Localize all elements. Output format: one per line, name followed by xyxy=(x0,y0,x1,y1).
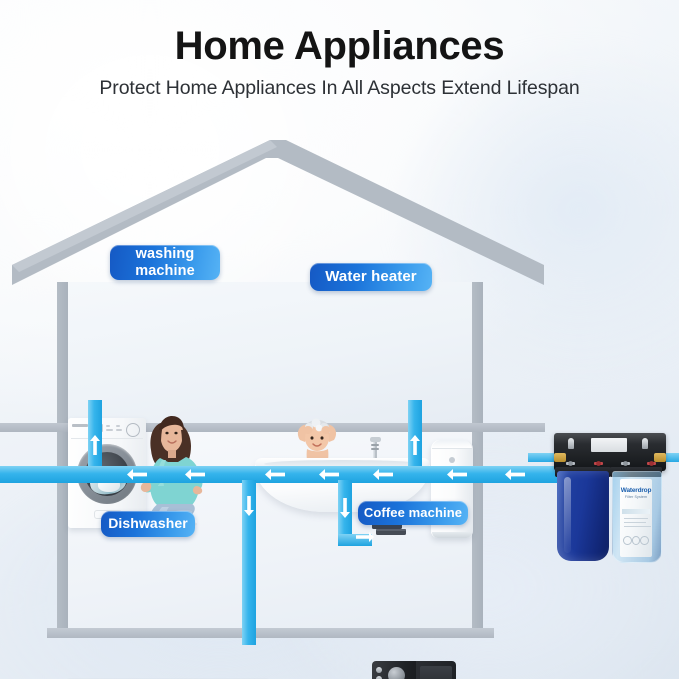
coffee-machine-dial xyxy=(388,667,405,679)
main-water-pipe xyxy=(0,466,566,483)
certification-icon xyxy=(623,536,632,545)
cartridge-spec-line xyxy=(624,526,651,527)
coffee-machine-body-left xyxy=(372,661,416,679)
pipe-branch-down-dishwasher xyxy=(242,480,256,645)
washer-button xyxy=(116,425,120,427)
water-filter-system: Waterdrop Filter System xyxy=(546,433,674,563)
page-subtitle: Protect Home Appliances In All Aspects E… xyxy=(0,78,679,99)
heater-indicator-light xyxy=(449,457,455,463)
certification-icon xyxy=(640,536,649,545)
washer-button xyxy=(106,429,113,431)
filter-housing-stage1-blue xyxy=(557,471,609,561)
label-coffee-machine[interactable]: Coffee machine xyxy=(358,501,468,525)
label-washing-machine-text: washing machine xyxy=(135,246,195,278)
kitchen-group xyxy=(68,665,328,679)
heater-base xyxy=(432,532,472,538)
house-wall-right xyxy=(472,282,483,634)
cartridge-spec-line xyxy=(624,522,646,523)
page-title: Home Appliances xyxy=(0,24,679,68)
cartridge-band xyxy=(622,509,650,514)
washer-button xyxy=(116,429,122,431)
roof-shape xyxy=(0,130,560,290)
header: Home Appliances Protect Home Appliances … xyxy=(0,24,679,99)
valve-fitting-silver xyxy=(565,455,576,464)
coffee-machine-display xyxy=(420,666,452,679)
house-wall-left xyxy=(57,282,68,634)
label-washing-machine[interactable]: washing machine xyxy=(110,245,220,280)
house-cutaway xyxy=(0,130,560,660)
label-line-1: washing xyxy=(136,246,195,262)
label-line-2: machine xyxy=(135,263,195,279)
brass-inlet-port xyxy=(554,453,566,462)
filter-spec-label xyxy=(591,438,627,452)
pipe-elbow-coffee-machine xyxy=(338,534,372,546)
pressure-release-button[interactable] xyxy=(568,438,574,449)
cartridge-certification-icons xyxy=(623,536,649,545)
filter-inlet-pipe xyxy=(528,453,554,462)
cartridge-spec-line xyxy=(624,518,648,519)
label-water-heater[interactable]: Water heater xyxy=(310,263,432,291)
filter-cartridge: Waterdrop Filter System xyxy=(620,479,652,557)
heater-top-cap xyxy=(432,440,472,449)
filter-mounting-bracket xyxy=(554,433,666,471)
pipe-branch-up-washing-machine xyxy=(88,400,102,470)
coffee-machine-button xyxy=(376,667,382,673)
label-dishwasher[interactable]: Dishwasher xyxy=(101,511,195,537)
coffee-machine-unit xyxy=(372,661,456,679)
filter-outlet-pipe xyxy=(666,453,679,462)
pipe-branch-up-water-heater xyxy=(408,400,422,470)
washer-button xyxy=(106,425,110,427)
brass-outlet-port xyxy=(654,453,666,462)
valve-fitting-red xyxy=(593,455,604,464)
infographic-canvas: Home Appliances Protect Home Appliances … xyxy=(0,0,679,679)
cartridge-brand-text: Waterdrop xyxy=(620,487,652,494)
certification-icon xyxy=(632,536,641,545)
pressure-release-button[interactable] xyxy=(642,438,648,449)
house-base-slab xyxy=(47,628,494,638)
pipe-branch-down-coffee-machine xyxy=(338,480,352,540)
cartridge-subtitle-text: Filter System xyxy=(620,495,652,499)
valve-fitting-silver xyxy=(620,455,631,464)
washer-brand-mark xyxy=(72,424,88,427)
